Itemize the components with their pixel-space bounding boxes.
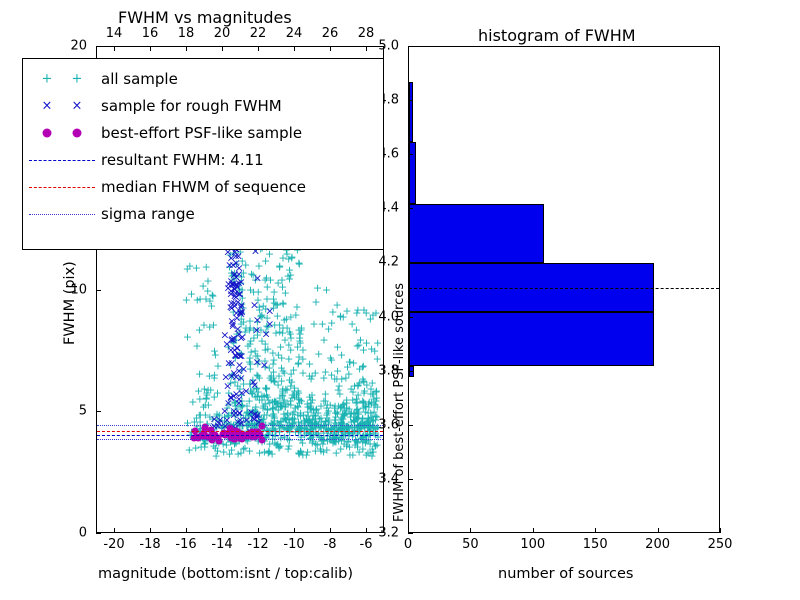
y-tick-label: 20	[70, 39, 87, 54]
scatter-point-rough: ×	[250, 379, 259, 390]
right-y-tick	[408, 533, 413, 534]
left-x-axis-label: magnitude (bottom:isnt / top:calib)	[98, 566, 353, 582]
scatter-point-all: +	[192, 341, 201, 352]
x-tick-top-label: 24	[286, 26, 303, 41]
scatter-point-all: +	[267, 370, 276, 381]
scatter-point-rough: ×	[249, 412, 258, 423]
resultant-fwhm-line	[97, 435, 383, 436]
x-tick	[294, 528, 295, 533]
scatter-point-all: +	[293, 402, 302, 413]
scatter-point-all: +	[314, 349, 323, 360]
x-tick-top-label: 14	[106, 26, 123, 41]
scatter-point-rough: ×	[253, 273, 262, 284]
histogram-bar	[409, 204, 544, 264]
x-tick-top-label: 18	[178, 26, 195, 41]
x-tick-top	[294, 46, 295, 51]
scatter-point-rough: ×	[261, 329, 270, 340]
scatter-point-all: +	[306, 428, 315, 439]
scatter-point-all: +	[279, 299, 288, 310]
y-tick	[96, 46, 101, 47]
histogram-bar	[409, 82, 413, 142]
scatter-point-all: +	[328, 306, 337, 317]
figure-canvas: FWHM vs magnitudes +++++++++++++++++++++…	[0, 0, 800, 600]
y-tick	[96, 533, 101, 534]
scatter-point-all: +	[313, 282, 322, 293]
scatter-point-all: +	[309, 318, 318, 329]
right-y-tick-label: 3.2	[378, 526, 399, 541]
scatter-point-all: +	[268, 348, 277, 359]
scatter-point-rough: ×	[250, 300, 259, 311]
scatter-point-rough: ×	[253, 356, 262, 367]
x-tick-top-label: 26	[322, 26, 339, 41]
x-tick	[366, 528, 367, 533]
scatter-point-all: +	[307, 390, 316, 401]
scatter-point-all: +	[323, 408, 332, 419]
right-y-tick-label: 4.0	[378, 309, 399, 324]
x-tick-label: -14	[211, 537, 232, 552]
right-y-tick-label: 4.2	[378, 255, 399, 270]
sigma-range-lower-line	[97, 439, 383, 440]
scatter-point-all: +	[277, 376, 286, 387]
legend-item[interactable]: median FHWM of sequence	[23, 173, 383, 200]
x-tick-label: -18	[139, 537, 160, 552]
right-x-tick-label: 100	[520, 537, 545, 552]
right-y-tick	[408, 46, 413, 47]
right-x-tick-label: 150	[583, 537, 608, 552]
right-y-tick	[408, 371, 413, 372]
scatter-point-rough: ×	[220, 330, 229, 341]
right-y-tick	[408, 262, 413, 263]
scatter-point-all: +	[195, 324, 204, 335]
scatter-point-rough: ×	[265, 306, 274, 317]
scatter-point-all: +	[348, 387, 357, 398]
scatter-point-all: +	[261, 382, 270, 393]
scatter-point-all: +	[268, 410, 277, 421]
legend-marker-sigma-range	[23, 200, 101, 227]
legend-item[interactable]: best-effort PSF-like sample	[23, 119, 383, 146]
scatter-point-all: +	[362, 379, 371, 390]
scatter-point-all: +	[305, 370, 314, 381]
legend-marker-psf-like	[23, 119, 101, 146]
legend-marker-median-fwhm	[23, 173, 101, 200]
legend-marker-rough-fwhm: ××	[23, 92, 101, 119]
right-y-tick-label: 5.0	[378, 39, 399, 54]
right-x-tick	[470, 528, 471, 533]
scatter-point-all: +	[208, 291, 217, 302]
y-tick	[96, 411, 101, 412]
scatter-point-rough: ×	[235, 308, 244, 319]
x-tick-top	[186, 46, 187, 51]
scatter-point-all: +	[195, 394, 204, 405]
x-tick-label: -6	[360, 537, 373, 552]
x-tick-label: -10	[283, 537, 304, 552]
histogram-bar	[409, 366, 414, 377]
right-x-tick-label: 250	[708, 537, 733, 552]
right-y-tick	[408, 154, 413, 155]
scatter-point-all: +	[187, 289, 196, 300]
scatter-point-all: +	[358, 361, 367, 372]
scatter-point-all: +	[275, 443, 284, 454]
scatter-point-rough: ×	[235, 262, 244, 273]
legend-item[interactable]: sigma range	[23, 200, 383, 227]
legend-item[interactable]: ×× sample for rough FWHM	[23, 92, 383, 119]
scatter-point-all: +	[311, 296, 320, 307]
scatter-point-all: +	[195, 368, 204, 379]
y-tick-label: 0	[79, 526, 87, 541]
scatter-point-all: +	[283, 398, 292, 409]
right-y-tick-label: 3.4	[378, 471, 399, 486]
right-x-tick	[720, 528, 721, 533]
scatter-point-all: +	[210, 346, 219, 357]
legend-label-resultant-fwhm: resultant FWHM: 4.11	[101, 151, 264, 169]
x-tick	[186, 528, 187, 533]
scatter-point-all: +	[333, 365, 342, 376]
scatter-point-all: +	[270, 396, 279, 407]
x-tick-top-label: 20	[214, 26, 231, 41]
scatter-point-all: +	[338, 399, 347, 410]
scatter-point-all: +	[286, 311, 295, 322]
scatter-point-all: +	[319, 335, 328, 346]
scatter-point-all: +	[210, 369, 219, 380]
right-y-tick	[408, 208, 413, 209]
right-y-tick	[408, 479, 413, 480]
scatter-point-all: +	[261, 256, 270, 267]
scatter-point-rough: ×	[252, 325, 261, 336]
right-x-tick-label: 50	[462, 537, 479, 552]
scatter-point-all: +	[246, 335, 255, 346]
x-tick-top	[150, 46, 151, 51]
right-plot-title: histogram of FWHM	[478, 26, 636, 45]
scatter-point-all: +	[293, 359, 302, 370]
sigma-range-upper-line	[97, 425, 383, 426]
legend-label-all-sample: all sample	[101, 70, 178, 88]
scatter-point-all: +	[202, 261, 211, 272]
scatter-point-all: +	[280, 334, 289, 345]
x-tick-label: -16	[175, 537, 196, 552]
scatter-point-all: +	[269, 294, 278, 305]
x-tick-label: -12	[247, 537, 268, 552]
scatter-point-all: +	[286, 380, 295, 391]
y-tick	[96, 290, 101, 291]
legend-label-psf-like: best-effort PSF-like sample	[101, 124, 302, 142]
x-tick-label: -20	[103, 537, 124, 552]
histogram-bar	[409, 312, 654, 366]
right-x-tick-label: 200	[645, 537, 670, 552]
scatter-point-all: +	[277, 353, 286, 364]
legend-item[interactable]: ++ all sample	[23, 65, 383, 92]
right-plot-axes	[408, 46, 720, 533]
scatter-point-all: +	[366, 314, 375, 325]
scatter-point-rough: ×	[230, 284, 239, 295]
scatter-point-all: +	[263, 281, 272, 292]
x-tick	[150, 528, 151, 533]
scatter-point-rough: ×	[229, 367, 238, 378]
scatter-point-rough: ×	[233, 342, 242, 353]
x-tick-top-label: 16	[142, 26, 159, 41]
scatter-point-all: +	[185, 260, 194, 271]
x-tick-label: -8	[324, 537, 337, 552]
scatter-point-all: +	[334, 385, 343, 396]
legend-marker-resultant-fwhm	[23, 146, 101, 173]
right-y-tick	[408, 425, 413, 426]
scatter-point-all: +	[255, 395, 264, 406]
x-tick	[114, 528, 115, 533]
legend-label-median-fwhm: median FHWM of sequence	[101, 178, 306, 196]
x-tick-top	[366, 46, 367, 51]
right-x-tick	[595, 528, 596, 533]
scatter-point-all: +	[183, 331, 192, 342]
legend-marker-all-sample: ++	[23, 65, 101, 92]
x-tick	[330, 528, 331, 533]
scatter-point-all: +	[255, 447, 264, 458]
scatter-point-all: +	[324, 323, 333, 334]
scatter-point-all: +	[369, 427, 378, 438]
left-y-axis-label: FWHM (pix)	[62, 261, 78, 345]
left-plot-title: FWHM vs magnitudes	[118, 8, 292, 27]
scatter-point-all: +	[345, 356, 354, 367]
right-x-tick	[658, 528, 659, 533]
x-tick-top-label: 28	[358, 26, 375, 41]
x-tick-top	[258, 46, 259, 51]
x-tick	[258, 528, 259, 533]
x-tick	[222, 528, 223, 533]
scatter-point-all: +	[358, 395, 367, 406]
legend-label-rough-fwhm: sample for rough FWHM	[101, 97, 282, 115]
scatter-point-all: +	[321, 367, 330, 378]
median-fwhm-line-right	[409, 288, 719, 289]
right-y-tick	[408, 100, 413, 101]
x-tick-top-label: 22	[250, 26, 267, 41]
x-tick-top	[114, 46, 115, 51]
x-tick-top	[222, 46, 223, 51]
right-y-tick	[408, 317, 413, 318]
legend: ++ all sample ×× sample for rough FWHM b…	[22, 58, 384, 250]
right-x-tick	[533, 528, 534, 533]
scatter-point-all: +	[307, 404, 316, 415]
scatter-point-all: +	[283, 270, 292, 281]
histogram-bar	[409, 142, 416, 204]
y-tick-label: 5	[79, 404, 87, 419]
scatter-point-all: +	[293, 341, 302, 352]
right-x-tick-label: 0	[404, 537, 412, 552]
right-x-axis-label: number of sources	[498, 566, 634, 582]
scatter-point-all: +	[373, 402, 382, 413]
scatter-point-rough: ×	[239, 364, 248, 375]
scatter-point-psf-like	[258, 423, 265, 430]
scatter-point-all: +	[209, 320, 218, 331]
median-fwhm-line	[97, 431, 383, 432]
scatter-point-all: +	[348, 318, 357, 329]
scatter-point-all: +	[322, 285, 331, 296]
y-tick-label: 10	[70, 282, 87, 297]
right-y-tick-label: 3.8	[378, 363, 399, 378]
scatter-point-all: +	[353, 340, 362, 351]
scatter-point-all: +	[326, 352, 335, 363]
scatter-point-all: +	[339, 438, 348, 449]
x-tick-top	[330, 46, 331, 51]
legend-label-sigma-range: sigma range	[101, 205, 195, 223]
legend-item[interactable]: resultant FWHM: 4.11	[23, 146, 383, 173]
right-y-tick-label: 3.6	[378, 417, 399, 432]
right-plot-data-area	[409, 47, 719, 532]
